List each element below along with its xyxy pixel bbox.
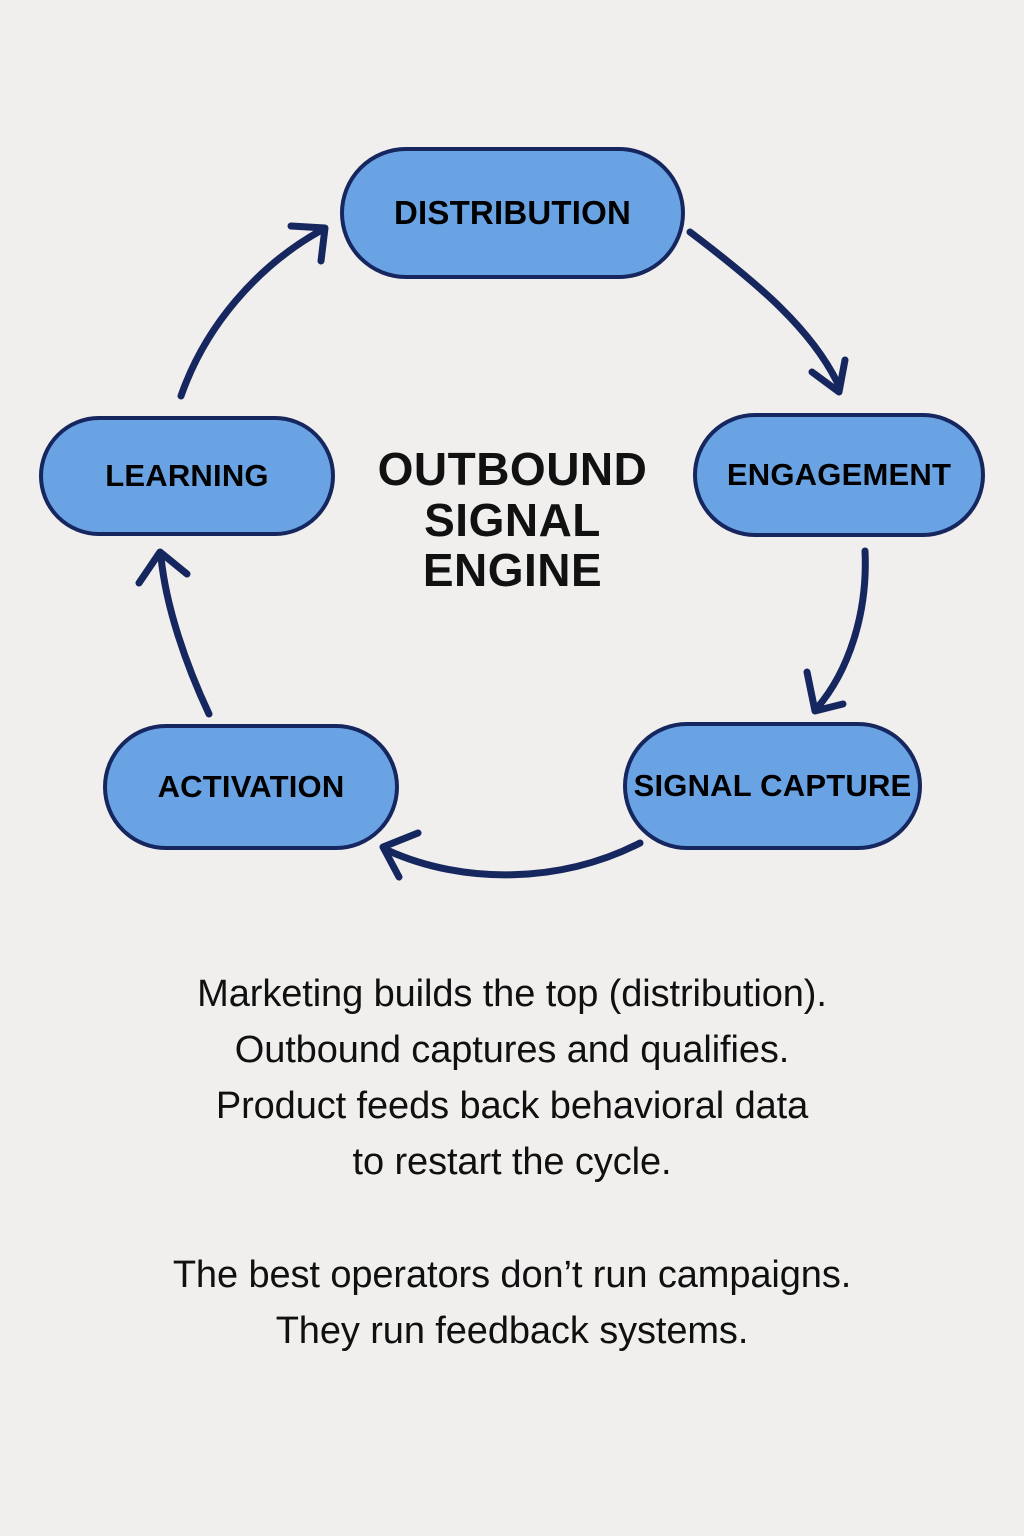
cycle-node-engagement[interactable]: ENGAGEMENT xyxy=(693,413,985,537)
cycle-node-signal-capture[interactable]: SIGNAL CAPTURE xyxy=(623,722,922,850)
cycle-diagram: DISTRIBUTION ENGAGEMENT SIGNAL CAPTURE A… xyxy=(0,0,1024,930)
caption-p1-line4: to restart the cycle. xyxy=(0,1134,1024,1190)
caption-p2-line1: The best operators don’t run campaigns. xyxy=(0,1247,1024,1303)
center-title-line2: SIGNAL xyxy=(335,495,690,546)
arrow-signal-capture-to-activation xyxy=(383,833,640,877)
cycle-node-signal-capture-line2: CAPTURE xyxy=(760,768,911,803)
cycle-node-distribution-label: DISTRIBUTION xyxy=(394,195,631,232)
caption-p1-line3: Product feeds back behavioral data xyxy=(0,1078,1024,1134)
caption-paragraph-2: The best operators don’t run campaigns. … xyxy=(0,1247,1024,1359)
cycle-node-activation-label: ACTIVATION xyxy=(158,770,345,805)
cycle-node-learning[interactable]: LEARNING xyxy=(39,416,335,536)
cycle-node-engagement-label: ENGAGEMENT xyxy=(727,458,951,493)
arrow-distribution-to-engagement xyxy=(690,232,845,392)
caption-block: Marketing builds the top (distribution).… xyxy=(0,966,1024,1359)
cycle-node-distribution[interactable]: DISTRIBUTION xyxy=(340,147,685,279)
cycle-node-learning-label: LEARNING xyxy=(105,459,269,494)
arrow-engagement-to-signal-capture xyxy=(807,551,865,711)
caption-p2-line2: They run feedback systems. xyxy=(0,1303,1024,1359)
caption-p1-line2: Outbound captures and qualifies. xyxy=(0,1022,1024,1078)
caption-paragraph-1: Marketing builds the top (distribution).… xyxy=(0,966,1024,1190)
arrow-activation-to-learning xyxy=(139,552,209,714)
center-title-line3: ENGINE xyxy=(335,545,690,596)
arrow-learning-to-distribution xyxy=(181,226,325,396)
center-title-line1: OUTBOUND xyxy=(335,444,690,495)
caption-p1-line1: Marketing builds the top (distribution). xyxy=(0,966,1024,1022)
cycle-node-signal-capture-label: SIGNAL CAPTURE xyxy=(634,769,912,804)
cycle-node-activation[interactable]: ACTIVATION xyxy=(103,724,399,850)
cycle-node-signal-capture-line1: SIGNAL xyxy=(634,768,752,803)
poster-canvas: DISTRIBUTION ENGAGEMENT SIGNAL CAPTURE A… xyxy=(0,0,1024,1536)
diagram-center-title: OUTBOUND SIGNAL ENGINE xyxy=(335,444,690,596)
